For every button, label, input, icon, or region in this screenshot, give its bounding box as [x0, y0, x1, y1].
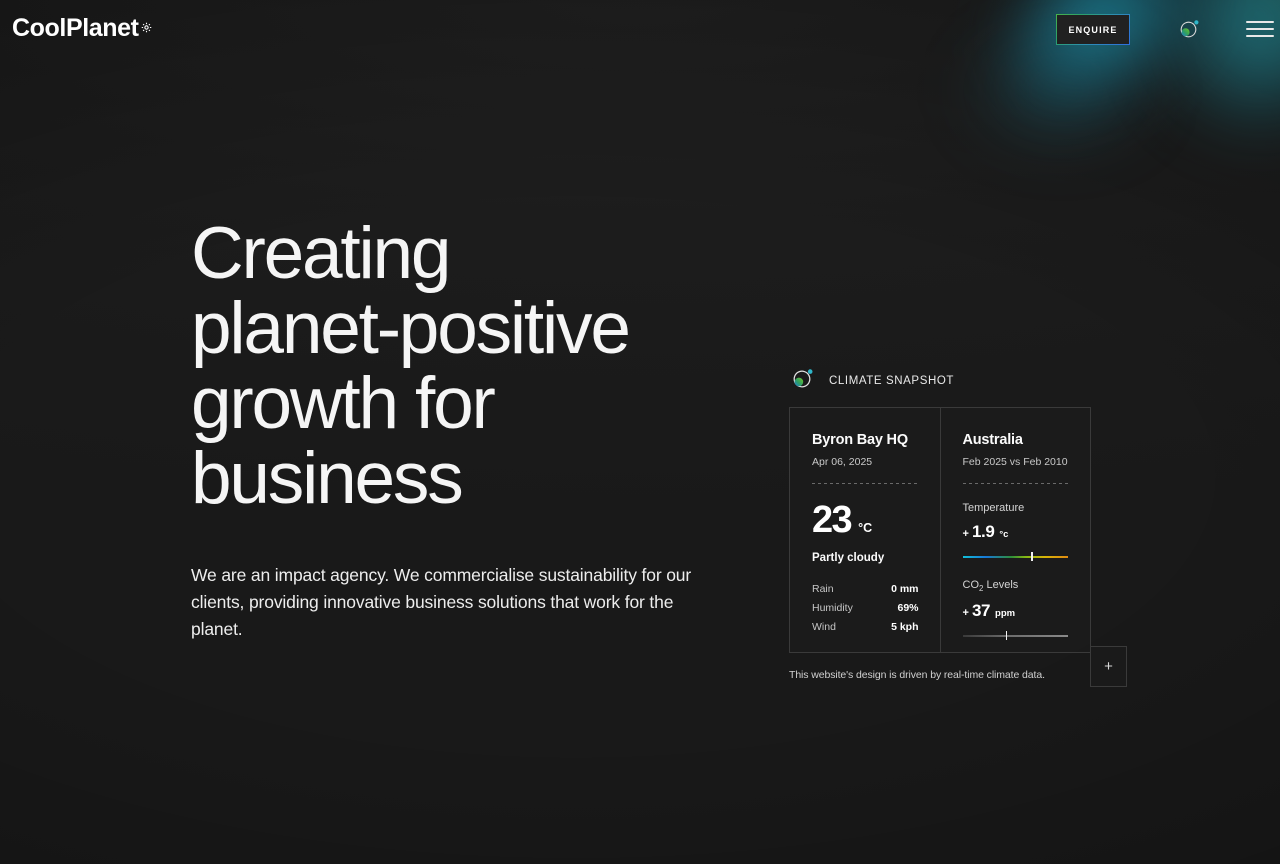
divider	[963, 483, 1070, 484]
stat-co2: CO2 Levels + 37 ppm	[963, 579, 1070, 640]
stat-value: 1.9	[972, 522, 994, 542]
temperature-bar-track	[963, 556, 1068, 558]
metric-value: 5 kph	[891, 621, 918, 633]
local-temperature-value: 23	[812, 501, 851, 539]
stat-sign: +	[963, 528, 969, 540]
stat-label: CO2 Levels	[963, 579, 1070, 593]
stat-label-pre: CO	[963, 579, 980, 591]
country-title: Australia	[963, 432, 1070, 448]
site-header: CoolPlanet ENQUIRE	[0, 0, 1280, 60]
metric-label: Humidity	[812, 602, 853, 614]
menu-line-1	[1246, 21, 1274, 23]
hero-subtitle: We are an impact agency. We commercialis…	[191, 562, 701, 643]
local-weather-panel: Byron Bay HQ Apr 06, 2025 23 °C Partly c…	[790, 408, 941, 652]
climate-snapshot-label: CLIMATE SNAPSHOT	[829, 375, 954, 387]
metric-row: Humidity 69%	[812, 602, 919, 614]
local-date: Apr 06, 2025	[812, 456, 919, 468]
enquire-button[interactable]: ENQUIRE	[1056, 14, 1130, 45]
stat-unit: °c	[999, 529, 1008, 540]
local-location-title: Byron Bay HQ	[812, 432, 919, 448]
planet-orbit-icon[interactable]	[1176, 16, 1202, 42]
metric-value: 0 mm	[891, 583, 918, 595]
climate-snapshot: CLIMATE SNAPSHOT Byron Bay HQ Apr 06, 20…	[789, 366, 1129, 681]
metric-value: 69%	[897, 602, 918, 614]
co2-bar-marker	[1006, 631, 1008, 640]
stat-value-row: + 37 ppm	[963, 601, 1070, 621]
brand-name: CoolPlanet	[12, 16, 139, 41]
climate-data-note: This website's design is driven by real-…	[789, 653, 1091, 681]
co2-bar-track	[963, 635, 1068, 637]
local-temperature: 23 °C	[812, 501, 919, 539]
metric-row: Wind 5 kph	[812, 621, 919, 633]
climate-snapshot-header: CLIMATE SNAPSHOT	[789, 366, 1129, 396]
planet-orbit-icon	[789, 365, 816, 397]
stat-sign: +	[963, 607, 969, 619]
metric-label: Wind	[812, 621, 836, 633]
stat-value-row: + 1.9 °c	[963, 522, 1070, 542]
co2-bar	[963, 631, 1068, 640]
local-metrics-list: Rain 0 mm Humidity 69% Wind 5 kph	[812, 583, 919, 633]
metric-row: Rain 0 mm	[812, 583, 919, 595]
menu-line-3	[1246, 35, 1274, 37]
climate-snapshot-footer: This website's design is driven by real-…	[789, 653, 1129, 681]
temperature-bar-marker	[1031, 552, 1033, 561]
divider	[812, 483, 919, 484]
country-date-range: Feb 2025 vs Feb 2010	[963, 456, 1070, 468]
flower-gear-icon	[141, 13, 152, 38]
enquire-button-label: ENQUIRE	[1057, 15, 1129, 44]
stat-label: Temperature	[963, 502, 1070, 514]
local-temperature-unit: °C	[858, 521, 872, 535]
local-condition: Partly cloudy	[812, 552, 919, 564]
stat-temperature: Temperature + 1.9 °c	[963, 502, 1070, 561]
climate-snapshot-card: Byron Bay HQ Apr 06, 2025 23 °C Partly c…	[789, 407, 1091, 653]
metric-label: Rain	[812, 583, 834, 595]
stat-unit: ppm	[995, 608, 1015, 619]
hamburger-menu-icon[interactable]	[1246, 21, 1274, 37]
stat-label-post: Levels	[983, 579, 1018, 591]
temperature-bar	[963, 552, 1068, 561]
menu-line-2	[1246, 28, 1274, 30]
brand-logo[interactable]: CoolPlanet	[12, 16, 152, 41]
country-comparison-panel: Australia Feb 2025 vs Feb 2010 Temperatu…	[941, 408, 1091, 652]
page-title: Creating planet-positive growth for busi…	[191, 216, 711, 516]
stat-value: 37	[972, 601, 990, 621]
hero-section: Creating planet-positive growth for busi…	[191, 216, 711, 643]
